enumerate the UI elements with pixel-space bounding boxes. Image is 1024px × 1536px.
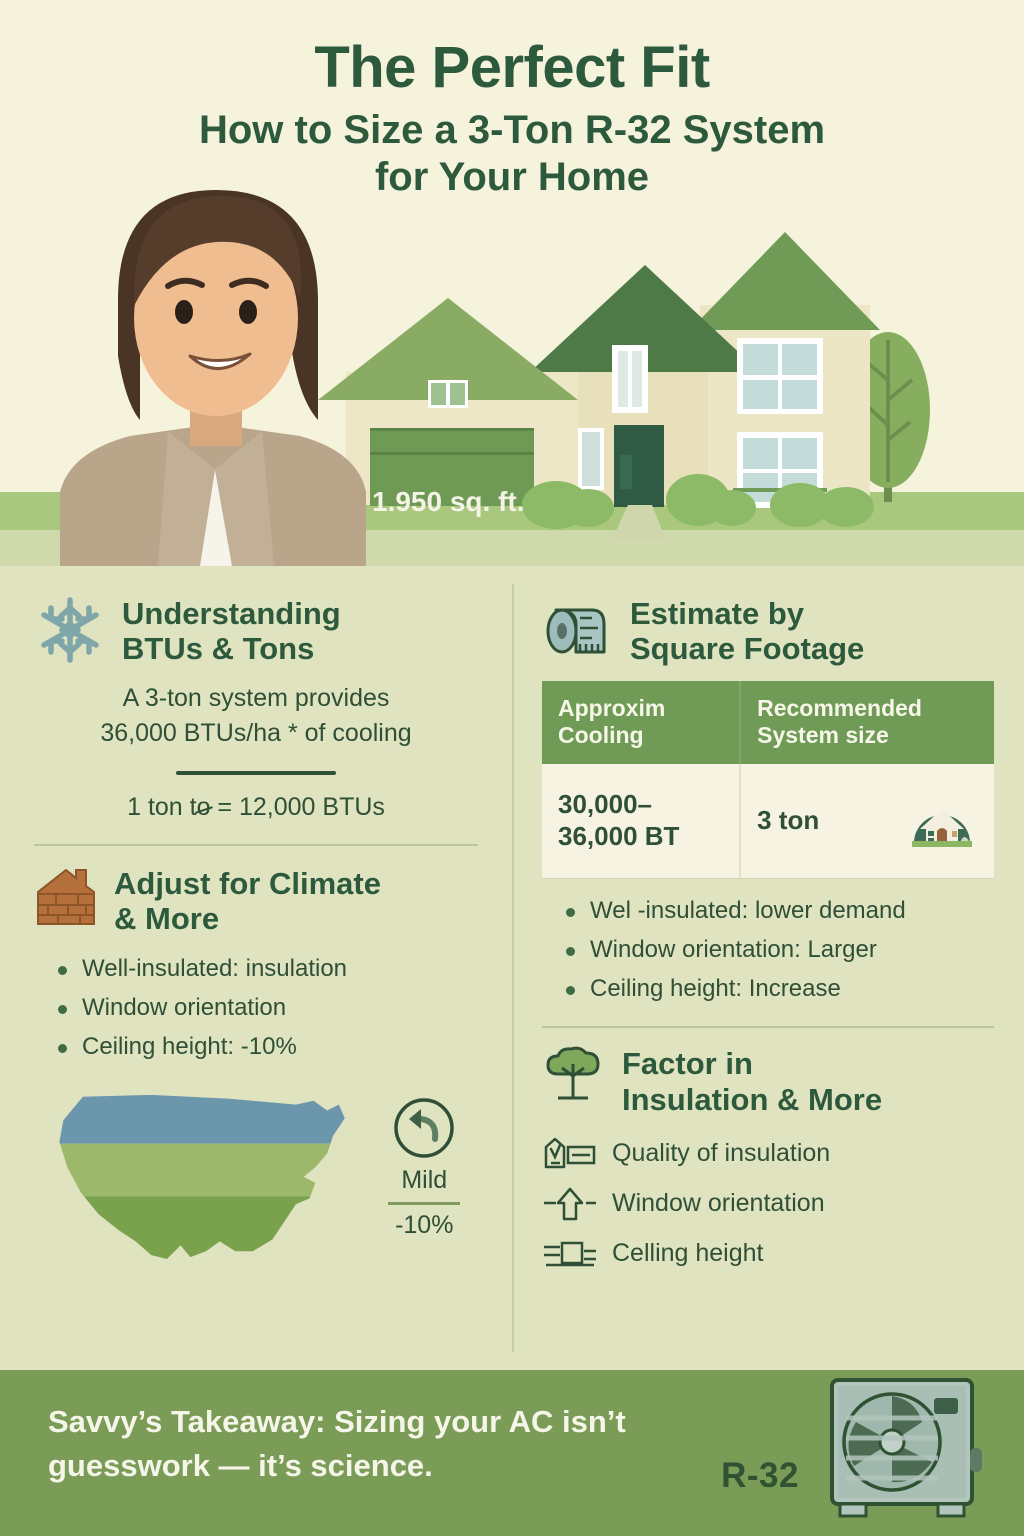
header-line1: Approxim [558,695,665,721]
page-subtitle-line2: for Your Home [0,154,1024,201]
list-item: Wel -insulated: lower demand [564,892,994,931]
footer-line1: Savvy’s Takeaway: Sizing your AC isn’t [48,1400,708,1444]
refrigerant-badge: R-32 [700,1456,820,1496]
sizing-table: Approxim Cooling Recommended System size… [542,681,994,878]
section-title-line1: Adjust for Climate [114,866,381,901]
column-header-cooling: Approxim Cooling [542,681,740,764]
section-factor-insulation: Factor in Insulation & More [542,1044,994,1117]
list-item: Window orientation [56,989,478,1028]
section-title-sqft: Estimate by Square Footage [630,594,864,667]
sqft-bullet-list: Wel -insulated: lower demand Window orie… [542,892,994,1009]
house-badge-icon [906,795,978,847]
us-climate-map [34,1081,357,1267]
climate-bullet-list: Well-insulated: insulation Window orient… [34,950,478,1067]
hero-title-block: The Perfect Fit How to Size a 3-Ton R-32… [0,38,1024,201]
climate-map-block: Mild -10% [34,1081,478,1267]
brick-house-icon [34,864,98,928]
table-row: 30,000– 36,000 BT 3 ton [542,764,994,878]
btu-description-line1: A 3-ton system provides [34,681,478,716]
section-title-line2: BTUs & Tons [122,631,314,666]
section-btus-tons: Understanding BTUs & Tons [34,594,478,667]
factor-label: Celling height [612,1238,764,1268]
snowflake-icon [34,594,106,666]
section-title-line2: & More [114,901,219,936]
hero-section: The Perfect Fit How to Size a 3-Ton R-32… [0,0,1024,566]
footer-line2: guesswork — it’s science. [48,1444,708,1488]
btu-equation: 1 ton to = 12,000 BTUs [34,793,478,822]
factor-label: Window orientation [612,1188,825,1218]
btu-description-line2: 36,000 BTUs/ha * of cooling [34,716,478,751]
equation-prefix: 1 ton t [127,793,197,821]
tape-measure-icon [542,594,614,666]
table-header-row: Approxim Cooling Recommended System size [542,681,994,764]
list-item: Quality of insulation [542,1133,994,1173]
section-title-factor: Factor in Insulation & More [622,1044,882,1117]
header-line2: Cooling [558,722,644,748]
equation-suffix: = 12,000 BTUs [211,793,385,821]
left-section-divider [34,844,478,846]
footer-takeaway-text: Savvy’s Takeaway: Sizing your AC isn’t g… [48,1400,708,1488]
content-panel: Understanding BTUs & Tons A 3-ton system… [0,566,1024,1370]
btu-divider [176,771,336,775]
section-title-line1: Estimate by [630,596,804,631]
list-item: Window orientation [542,1183,994,1223]
section-adjust-climate: Adjust for Climate & More [34,864,478,937]
cell-system-size: 3 ton [740,764,994,878]
right-section-divider [542,1026,994,1028]
window-arrow-icon [542,1183,598,1223]
climate-badge-divider [388,1202,460,1205]
section-title-line1: Understanding [122,596,341,631]
infographic-poster: The Perfect Fit How to Size a 3-Ton R-32… [0,0,1024,1536]
ac-condenser-icon [818,1374,998,1526]
section-title-line2: Insulation & More [622,1082,882,1117]
section-estimate-sqft: Estimate by Square Footage [542,594,994,667]
header-line1: Recommended [757,695,922,721]
list-item: Ceiling height: Increase [564,970,994,1009]
section-title-line2: Square Footage [630,631,864,666]
section-title-line1: Factor in [622,1046,753,1081]
list-item: Celling height [542,1233,994,1273]
footer-banner: Savvy’s Takeaway: Sizing your AC isn’t g… [0,1370,1024,1536]
cooling-line1: 30,000– [558,789,652,819]
equation-strike-glyph: o [197,793,211,822]
section-title-climate: Adjust for Climate & More [114,864,381,937]
factor-label: Quality of insulation [612,1138,830,1168]
ceiling-height-icon [542,1233,598,1273]
list-item: Well-insulated: insulation [56,950,478,989]
insulation-panel-icon [542,1133,598,1173]
system-size-value: 3 ton [757,805,819,837]
factor-icon-rows: Quality of insulation Window orientation [542,1133,994,1273]
curved-arrow-circle-icon [393,1097,455,1159]
tree-icon [542,1044,606,1108]
climate-badge-value: -10% [371,1211,479,1240]
column-header-system-size: Recommended System size [740,681,994,764]
right-column: Estimate by Square Footage Approxim Cool… [512,566,1024,1370]
section-title-btus: Understanding BTUs & Tons [122,594,341,667]
list-item: Window orientation: Larger [564,931,994,970]
climate-badge: Mild -10% [371,1081,479,1241]
left-column: Understanding BTUs & Tons A 3-ton system… [0,566,512,1370]
page-title: The Perfect Fit [0,38,1024,99]
header-line2: System size [757,722,889,748]
cell-cooling-range: 30,000– 36,000 BT [542,764,740,878]
btu-description: A 3-ton system provides 36,000 BTUs/ha *… [34,681,478,751]
house-square-footage-label: 1.950 sq. ft. [372,486,525,518]
climate-badge-label: Mild [371,1167,479,1195]
cooling-line2: 36,000 BT [558,821,679,851]
list-item: Ceiling height: -10% [56,1028,478,1067]
page-subtitle-line1: How to Size a 3-Ton R-32 System [0,107,1024,154]
